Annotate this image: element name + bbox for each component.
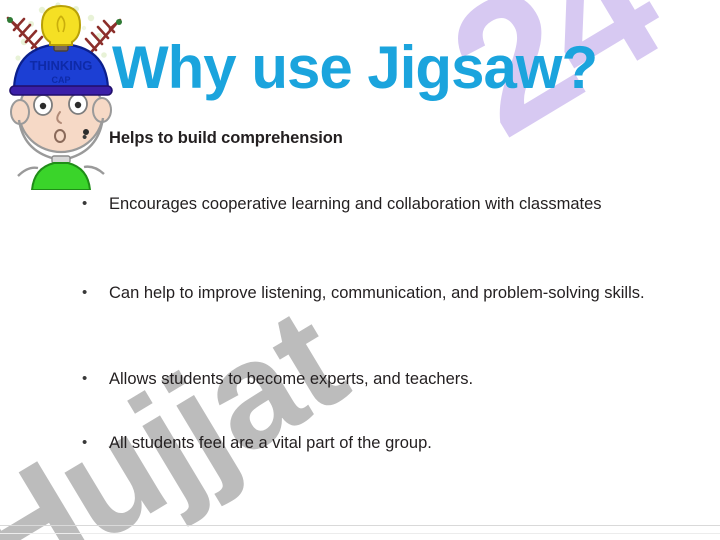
bullet-text: Encourages cooperative learning and coll… — [109, 193, 660, 215]
bullet-text: Allows students to become experts, and t… — [109, 368, 640, 390]
bullet-marker-icon: • — [80, 127, 109, 149]
bullet-item: • All students feel are a vital part of … — [80, 432, 620, 454]
cap-label-thinking: THINKING — [30, 58, 93, 73]
bullet-item: • Can help to improve listening, communi… — [80, 282, 688, 304]
slide-title: Why use Jigsaw? — [112, 36, 597, 100]
bullet-item: • Encourages cooperative learning and co… — [80, 193, 660, 215]
bullet-marker-icon: • — [80, 282, 109, 304]
slide-bottom-divider-secondary — [0, 533, 720, 534]
watermark-hujjat: Hujjat — [0, 283, 365, 540]
slide-canvas: 24 Hujjat — [0, 0, 720, 540]
shirt — [18, 163, 104, 190]
bullet-marker-icon: • — [80, 368, 109, 390]
bullet-item: • Helps to build comprehension — [80, 127, 500, 149]
bullet-text: All students feel are a vital part of th… — [109, 432, 620, 454]
antenna-left-tips — [7, 17, 13, 23]
lightbulb-icon — [42, 6, 80, 51]
bullet-text: Helps to build comprehension — [109, 127, 500, 149]
bullet-marker-icon: • — [80, 193, 109, 215]
bullet-text: Can help to improve listening, communica… — [109, 282, 688, 304]
bullet-item: • Allows students to become experts, and… — [80, 368, 640, 390]
bullet-marker-icon: • — [80, 432, 109, 454]
antenna-right-tips — [116, 19, 122, 25]
cap-label-cap: CAP — [51, 75, 70, 85]
slide-bottom-divider — [0, 525, 720, 526]
